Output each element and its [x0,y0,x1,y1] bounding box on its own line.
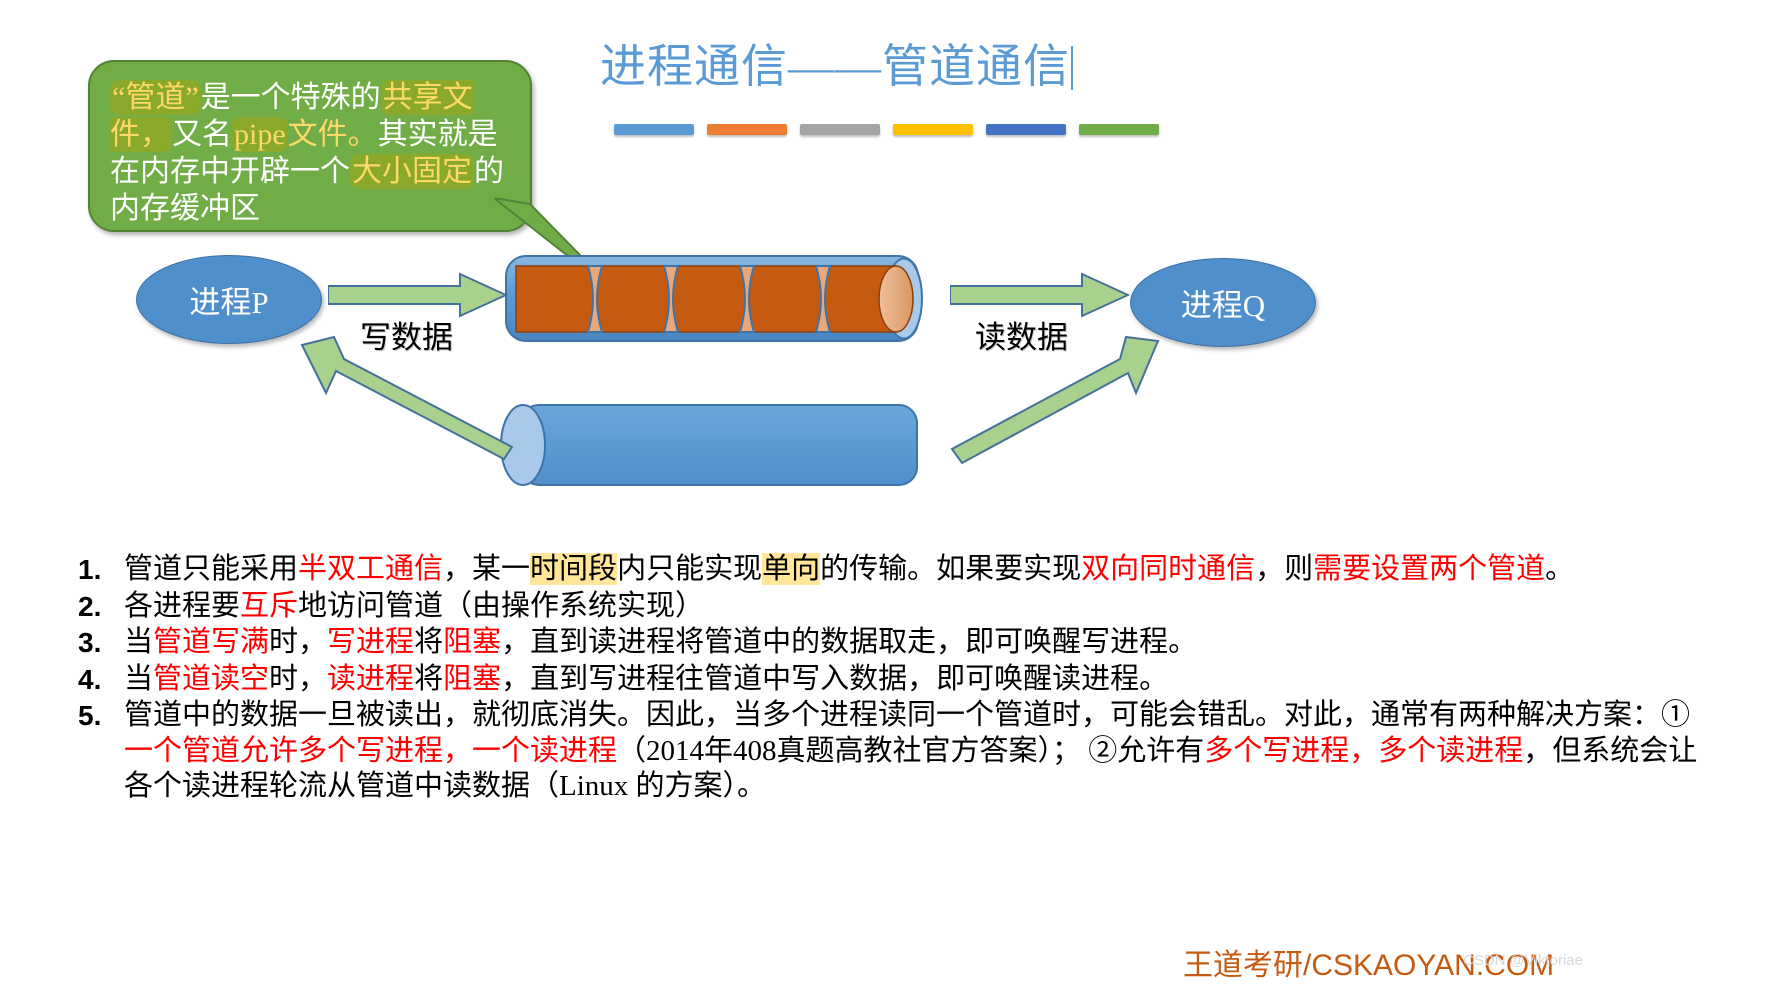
callout-run-pipe: “管道” [110,80,201,115]
bullet-number: 2. [78,589,124,625]
text-cursor-icon [1071,46,1073,90]
bullet-run: 读进程 [327,663,414,695]
bullet-run: ，直到读进程将管道中的数据取走，即可唤醒写进程。 [501,626,1197,658]
bullet-run: 半双工通信 [298,553,443,585]
bullet-run: 时， [269,663,327,695]
page-title-text: 进程通信——管道通信 [600,41,1070,92]
bullet-number: 3. [78,625,124,661]
bullet-run: 管道只能采用 [124,553,298,585]
bullet-run: （2014年408真题高教社官方答案）； ②允许有 [617,735,1204,767]
bullet-text: 各进程要互斥地访问管道（由操作系统实现） [124,589,1718,625]
bullet-run: 双向同时通信 [1081,553,1255,585]
bullet-run: ，某一 [443,553,530,585]
callout-run-1: 是一个特殊的 [201,81,381,114]
callout-run-file: 文件。 [288,118,378,151]
read-pipe-cylinder [497,400,922,490]
process-q-label: 进程Q [1181,280,1265,325]
bullet-text: 当管道写满时，写进程将阻塞，直到读进程将管道中的数据取走，即可唤醒写进程。 [124,625,1718,661]
accent-bar-indigo [986,124,1066,135]
watermark: CSDN @Viktoriae [1463,952,1583,969]
bullet-run: 写进程 [327,626,414,658]
bullet-run: 一个管道允许多个写进程，一个读进程 [124,735,617,767]
bullet-run: ，直到写进程往管道中写入数据，即可唤醒读进程。 [501,663,1168,695]
accent-bar-yellow [893,124,973,135]
slide-canvas: 进程通信——管道通信 “管道”是一个特殊的共享文件，又名pipe文件。其实就是在… [0,0,1784,996]
bullet-item: 5.管道中的数据一旦被读出，就彻底消失。因此，当多个进程读同一个管道时，可能会错… [78,698,1718,805]
bullet-text: 当管道读空时，读进程将阻塞，直到写进程往管道中写入数据，即可唤醒读进程。 [124,662,1718,698]
bullet-run: 内只能实现 [617,553,762,585]
bullet-run: 将 [414,626,443,658]
page-title: 进程通信——管道通信 [600,30,1220,96]
bullet-number: 1. [78,552,124,588]
process-p-label: 进程P [189,277,268,322]
bullet-number: 4. [78,662,124,698]
bullet-text: 管道中的数据一旦被读出，就彻底消失。因此，当多个进程读同一个管道时，可能会错乱。… [124,698,1718,805]
bullet-run: 地访问管道（由操作系统实现） [298,590,704,622]
bullet-run: 的传输。如果要实现 [820,553,1081,585]
bullet-run: 管道读空 [153,663,269,695]
bullet-run: 当 [124,663,153,695]
accent-bar-green [1079,124,1159,135]
bullet-run: 阻塞 [443,626,501,658]
process-p-node[interactable]: 进程P [136,255,322,344]
bullet-item: 1.管道只能采用半双工通信，某一时间段内只能实现单向的传输。如果要实现双向同时通… [78,552,1718,588]
bullet-run: 多个写进程，多个读进程 [1204,735,1523,767]
callout-bubble: “管道”是一个特殊的共享文件，又名pipe文件。其实就是在内存中开辟一个大小固定… [88,60,532,232]
bullet-run: 需要设置两个管道 [1313,553,1545,585]
bullet-item: 4.当管道读空时，读进程将阻塞，直到写进程往管道中写入数据，即可唤醒读进程。 [78,662,1718,698]
bullet-run: 将 [414,663,443,695]
accent-bar-group [614,124,1159,135]
bullet-run: 。 [1545,553,1574,585]
bullet-run: 当 [124,626,153,658]
bullet-item: 3.当管道写满时，写进程将阻塞，直到读进程将管道中的数据取走，即可唤醒写进程。 [78,625,1718,661]
bullet-run: 管道写满 [153,626,269,658]
bullet-item: 2.各进程要互斥地访问管道（由操作系统实现） [78,589,1718,625]
callout-bubble-text: “管道”是一个特殊的共享文件，又名pipe文件。其实就是在内存中开辟一个大小固定… [110,79,522,227]
write-pipe-cylinder [500,250,928,347]
bullet-run: 时， [269,626,327,658]
bullet-list: 1.管道只能采用半双工通信，某一时间段内只能实现单向的传输。如果要实现双向同时通… [78,552,1718,806]
bullet-number: 5. [78,698,124,734]
accent-bar-gray [800,124,880,135]
read-arrow-label: 读数据 [975,312,1068,357]
bullet-run: 管道中的数据一旦被读出，就彻底消失。因此，当多个进程读同一个管道时，可能会错乱。… [124,699,1690,731]
bullet-text: 管道只能采用半双工通信，某一时间段内只能实现单向的传输。如果要实现双向同时通信，… [124,552,1718,588]
bullet-run: 互斥 [240,590,298,622]
process-q-node[interactable]: 进程Q [1130,258,1316,347]
bullet-run: 各进程要 [124,590,240,622]
callout-run-3: 又名 [172,118,232,151]
write-arrow-label: 写数据 [360,312,453,357]
accent-bar-blue [614,124,694,135]
bullet-run: ，则 [1255,553,1313,585]
bullet-run: 单向 [762,553,820,585]
bullet-run: 时间段 [530,553,617,585]
callout-run-pipe-word: pipe [232,117,288,152]
bullet-run: 阻塞 [443,663,501,695]
accent-bar-orange [707,124,787,135]
callout-run-fixedsize: 大小固定 [350,154,474,189]
